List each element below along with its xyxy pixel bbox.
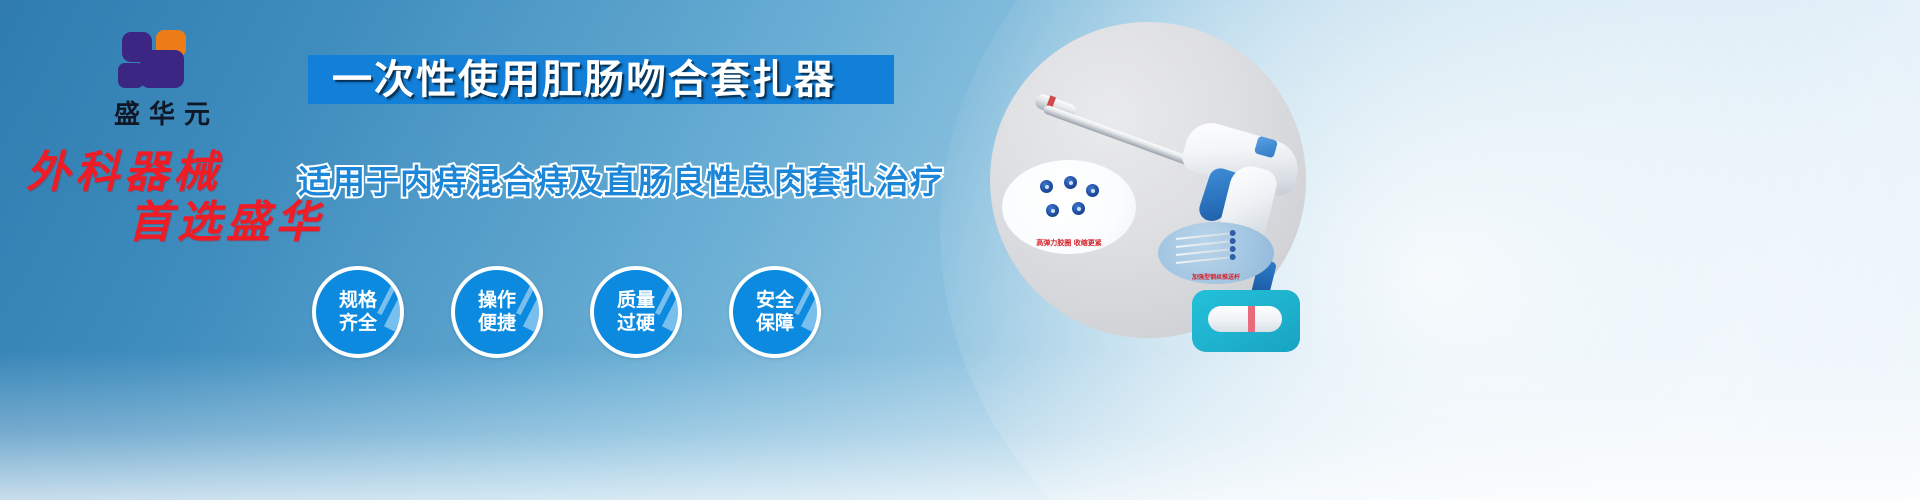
brand-blocks-icon [116,28,208,90]
feature-badge-line-1: 操作 [478,289,516,312]
rubber-band-dot [1040,180,1053,193]
bottom-fade [0,350,1920,500]
feature-badge-line-2: 齐全 [339,312,377,335]
feature-badge[interactable]: 操作 便捷 [451,266,543,358]
logo-block-purple-main [140,50,184,88]
slogan-line-2: 首选盛华 [128,200,352,246]
rubber-band-dot [1072,202,1085,215]
feature-badge-line-1: 安全 [756,289,794,312]
rubber-band-dot [1046,204,1059,217]
rubber-band-dot [1064,176,1077,189]
rubber-band-dot [1086,184,1099,197]
brand-logo[interactable]: 盛华元 [62,28,262,128]
push-rod [1176,240,1234,248]
feature-badge[interactable]: 规格 齐全 [312,266,404,358]
push-rods-inset: 加强型钢丝推送杆 [1158,222,1274,284]
product-photo: 高弹力胶圈 收缩更紧 加强型钢丝推送杆 [990,22,1306,338]
device-tip-body [1208,306,1282,332]
page-title: 一次性使用肛肠吻合套扎器 [332,56,892,104]
promo-banner: 盛华元 外科器械 首选盛华 一次性使用肛肠吻合套扎器 适用于内痔混合痔及直肠良性… [0,0,1920,500]
rubber-bands-inset: 高弹力胶圈 收缩更紧 [1002,160,1136,254]
push-rod [1176,256,1234,264]
feature-badge-list: 规格 齐全 操作 便捷 质量 过硬 安全 保障 [312,266,872,362]
push-rods-caption: 加强型钢丝推送杆 [1158,272,1274,281]
logo-block-purple-left [118,63,144,88]
feature-badge[interactable]: 质量 过硬 [590,266,682,358]
subtitle: 适用于内痔混合痔及直肠良性息肉套扎治疗 [298,160,918,204]
device-tip-inset [1192,290,1300,352]
device-tip-ring [1248,306,1255,332]
rubber-bands-caption: 高弹力胶圈 收缩更紧 [1002,238,1136,248]
feature-badge[interactable]: 安全 保障 [729,266,821,358]
push-rod [1176,248,1234,256]
feature-badge-line-2: 保障 [756,312,794,335]
feature-badge-line-1: 规格 [339,289,377,312]
feature-badge-line-2: 过硬 [617,312,655,335]
push-rod [1176,232,1234,240]
brand-name: 盛华元 [62,94,262,131]
feature-badge-line-1: 质量 [617,289,655,312]
feature-badge-line-2: 便捷 [478,312,516,335]
